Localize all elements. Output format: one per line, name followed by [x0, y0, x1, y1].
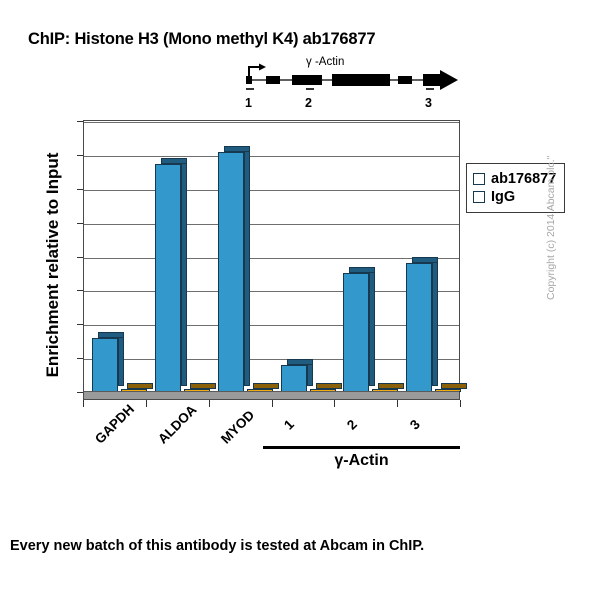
bar-ab176877	[343, 273, 369, 392]
y-axis-tick-mark	[77, 121, 83, 122]
gridline	[84, 291, 459, 292]
bar-side	[118, 332, 124, 386]
x-axis-label: 2	[344, 417, 360, 433]
x-axis-label: 3	[407, 417, 423, 433]
plot-area	[83, 120, 460, 400]
x-axis-tick-mark	[334, 400, 335, 407]
legend-item-ab176877: ab176877	[473, 171, 556, 187]
gene-position-1: 1	[245, 96, 252, 110]
bar-side	[369, 267, 375, 386]
chip-figure: ChIP: Histone H3 (Mono methyl K4) ab1768…	[0, 0, 600, 600]
plot-floor	[84, 391, 459, 399]
legend-item-igg: IgG	[473, 189, 556, 205]
x-axis-label: 1	[281, 417, 297, 433]
y-axis-tick-mark	[77, 155, 83, 156]
bar-ab176877	[92, 338, 118, 392]
bar-ab176877	[406, 263, 432, 392]
x-axis-tick-mark	[272, 400, 273, 407]
x-axis-tick-mark	[209, 400, 210, 407]
gene-position-2: 2	[305, 96, 312, 110]
bar-side	[244, 146, 250, 387]
x-axis-tick-mark	[146, 400, 147, 407]
bar-face	[92, 338, 118, 392]
y-axis-tick-mark	[77, 257, 83, 258]
x-axis-tick-mark	[83, 400, 84, 407]
bar-ab176877	[218, 152, 244, 393]
bar-side	[181, 158, 187, 386]
bar-ab176877	[155, 164, 181, 392]
figure-caption: Every new batch of this antibody is test…	[10, 538, 424, 554]
x-axis-tick-mark	[460, 400, 461, 407]
gene-diagram: γ -Actin 1 2 3	[240, 58, 460, 114]
y-axis-tick-mark	[77, 392, 83, 393]
group-bracket	[263, 446, 460, 449]
gridline	[84, 359, 459, 360]
y-axis-title: Enrichment relative to Input	[43, 120, 63, 410]
y-axis-tick-mark	[77, 189, 83, 190]
legend-label-igg: IgG	[491, 189, 515, 205]
gene-position-3: 3	[425, 96, 432, 110]
y-axis-tick-mark	[77, 223, 83, 224]
x-axis-label: MYOD	[218, 407, 257, 446]
gene-structure-icon	[240, 58, 460, 98]
gridline	[84, 325, 459, 326]
bar-face	[343, 273, 369, 392]
group-label: γ-Actin	[263, 452, 460, 470]
copyright-notice: Copyright (c) 2014 Abcam plc."	[545, 70, 557, 300]
bar-face	[406, 263, 432, 392]
bar-side	[432, 257, 438, 386]
x-axis-label: ALDOA	[155, 402, 200, 447]
gridline	[84, 190, 459, 191]
y-axis-tick-mark	[77, 324, 83, 325]
y-axis-tick-mark	[77, 358, 83, 359]
legend-swatch-ab176877	[473, 173, 485, 185]
bar-face	[155, 164, 181, 392]
gene-diagram-label: γ -Actin	[306, 56, 344, 68]
gridline	[84, 122, 459, 123]
gridline	[84, 224, 459, 225]
page-title: ChIP: Histone H3 (Mono methyl K4) ab1768…	[28, 30, 375, 49]
bar-face	[218, 152, 244, 393]
x-axis-tick-mark	[397, 400, 398, 407]
legend-swatch-igg	[473, 191, 485, 203]
gridline	[84, 156, 459, 157]
bar-face	[281, 365, 307, 392]
x-axis-label: GAPDH	[92, 402, 137, 447]
gridline	[84, 258, 459, 259]
bar-ab176877	[281, 365, 307, 392]
y-axis-tick-mark	[77, 290, 83, 291]
